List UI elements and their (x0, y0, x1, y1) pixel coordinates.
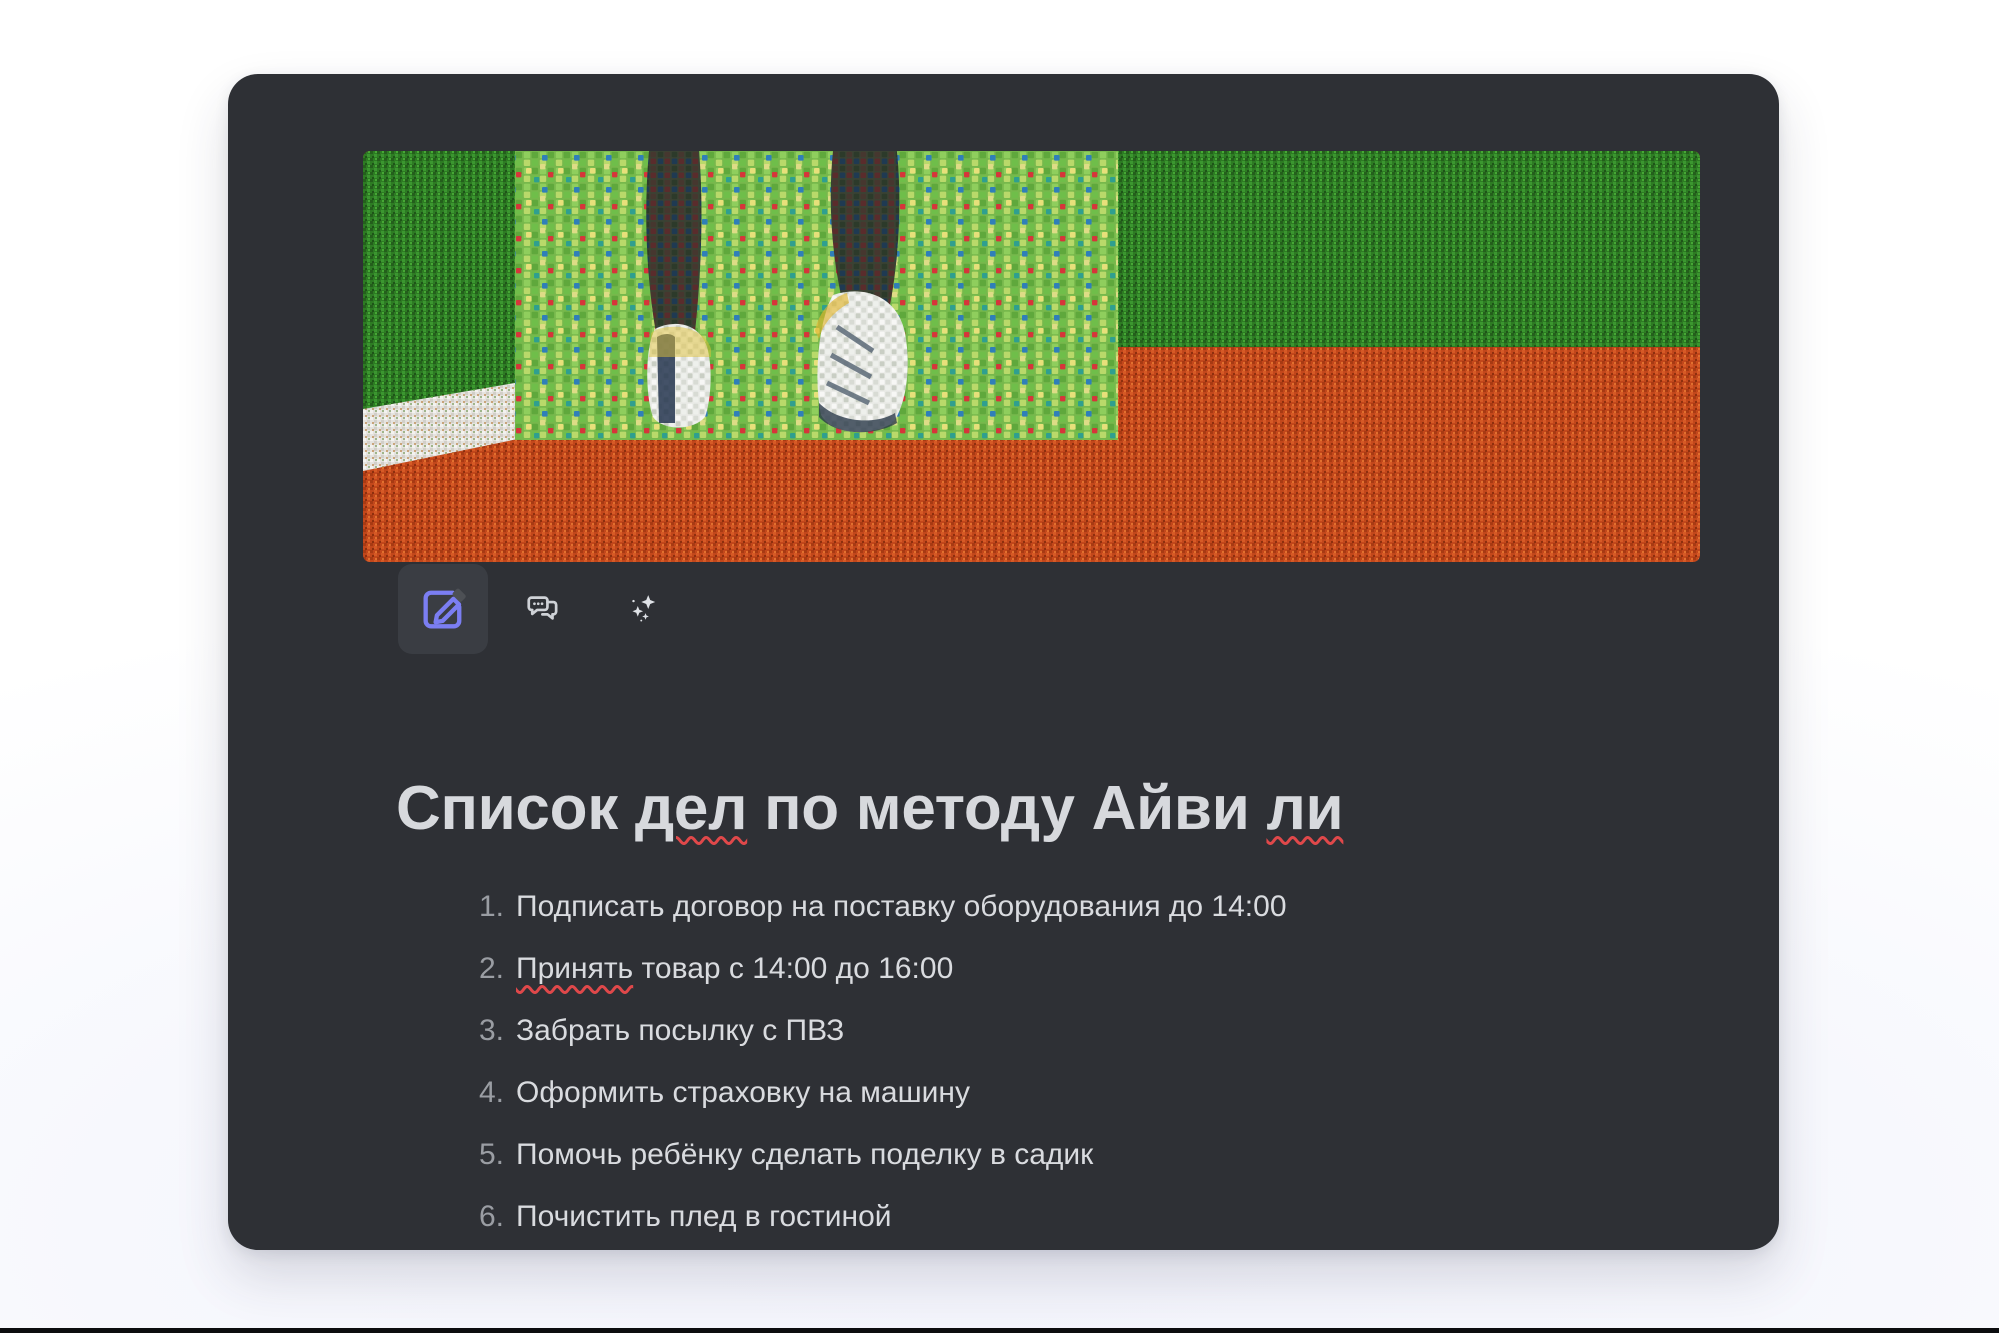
edit-button[interactable] (398, 564, 488, 654)
ai-sparkles-button[interactable] (598, 564, 688, 654)
list-item[interactable]: 1.Подписать договор на поставку оборудов… (466, 892, 1646, 954)
list-item[interactable]: 4.Оформить страховку на машину (466, 1078, 1646, 1140)
list-item-text: Подписать договор на поставку оборудован… (516, 892, 1287, 922)
title-text-run: по методу Айви (747, 774, 1266, 843)
title-text-run: Список (396, 774, 635, 843)
list-item-text: Оформить страховку на машину (516, 1078, 970, 1108)
list-item[interactable]: 2.Принять товар с 14:00 до 16:00 (466, 954, 1646, 1016)
todo-list: 1.Подписать договор на поставку оборудов… (466, 892, 1646, 1250)
comment-button[interactable] (498, 564, 588, 654)
list-item-text-run: товар с 14:00 до 16:00 (633, 952, 953, 985)
document-card: Список дел по методу Айви ли 1.Подписать… (228, 74, 1779, 1250)
page-title[interactable]: Список дел по методу Айви ли (396, 774, 1646, 843)
list-item[interactable]: 5.Помочь ребёнку сделать поделку в садик (466, 1140, 1646, 1202)
list-item-number: 4. (466, 1078, 504, 1108)
list-item-number: 5. (466, 1140, 504, 1170)
list-item-text: Почистить плед в гостиной (516, 1202, 892, 1232)
list-item[interactable]: 6.Почистить плед в гостиной (466, 1202, 1646, 1250)
list-item[interactable]: 3.Забрать посылку с ПВЗ (466, 1016, 1646, 1078)
block-toolbar (398, 564, 688, 654)
list-item-text: Помочь ребёнку сделать поделку в садик (516, 1140, 1093, 1170)
list-item-number: 2. (466, 954, 504, 984)
banner-artwork (363, 151, 1700, 562)
title-misspelled-word: дел (635, 774, 747, 843)
screen-bottom-edge (0, 1328, 1999, 1333)
list-item-number: 6. (466, 1202, 504, 1232)
comment-bubbles-icon (524, 590, 562, 628)
misspelled-word: Принять (516, 952, 633, 985)
list-item-text: Принять товар с 14:00 до 16:00 (516, 954, 953, 984)
list-item-text: Забрать посылку с ПВЗ (516, 1016, 844, 1046)
list-item-number: 3. (466, 1016, 504, 1046)
banner-image[interactable] (363, 151, 1700, 562)
title-misspelled-word: ли (1266, 774, 1343, 843)
pencil-square-icon (417, 583, 469, 635)
sparkles-icon (624, 590, 662, 628)
list-item-number: 1. (466, 892, 504, 922)
